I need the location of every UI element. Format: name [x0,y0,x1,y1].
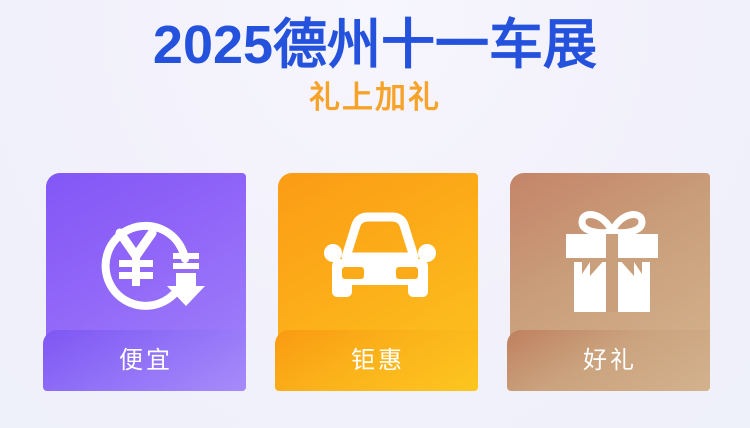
promo-banner: 2025德州十一车展 礼上加礼 [0,0,750,428]
yen-price-down-icon [46,195,246,327]
feature-card-discount[interactable]: 钜惠 [275,173,475,391]
feature-card-cheap[interactable]: 便宜 [43,173,243,391]
card-footer: 好礼 [507,330,710,391]
card-footer: 钜惠 [275,330,478,391]
page-subtitle: 礼上加礼 [0,76,750,116]
feature-card-gift[interactable]: 好礼 [507,173,707,391]
page-title: 2025德州十一车展 [0,0,750,76]
feature-card-list: 便宜 [40,173,710,391]
card-label: 钜惠 [351,347,405,375]
card-label: 便宜 [119,347,173,375]
card-label: 好礼 [583,347,637,375]
gift-box-icon [510,195,710,327]
car-front-icon [278,195,478,327]
card-footer: 便宜 [43,330,246,391]
title-block: 2025德州十一车展 礼上加礼 [0,0,750,116]
